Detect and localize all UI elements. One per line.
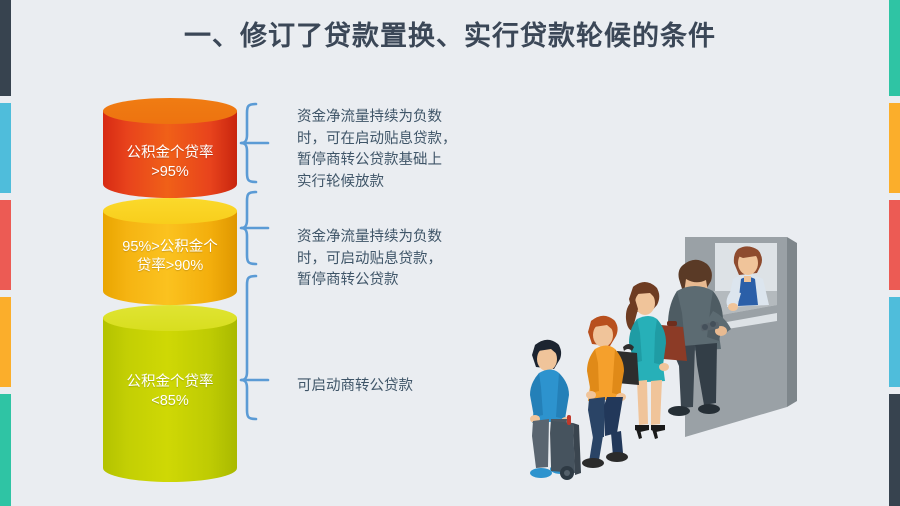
- tier-high-cap: [103, 98, 237, 124]
- desc-line: 可启动商转公贷款: [297, 376, 512, 398]
- desc-line: 实行轮候放款: [297, 172, 512, 194]
- desc-line: 时，可在启动贴息贷款，: [297, 129, 512, 151]
- strip-segment-teal: [0, 394, 11, 506]
- customer-man-blue: [530, 340, 581, 480]
- strip-segment-orange: [0, 297, 11, 387]
- customer-woman: [617, 282, 669, 439]
- desc-line: 暂停商转公贷款: [297, 270, 512, 292]
- tier-low-body: [103, 318, 237, 482]
- bank-queue-illustration: [505, 235, 805, 495]
- strip-segment-orange: [889, 103, 900, 193]
- bank-queue-svg: [505, 235, 805, 495]
- desc-line: 暂停商转公贷款基础上: [297, 150, 512, 172]
- tier-high-description: 资金净流量持续为负数 时，可在启动贴息贷款， 暂停商转公贷款基础上 实行轮候放款: [297, 107, 512, 193]
- desc-line: 资金净流量持续为负数: [297, 107, 512, 129]
- tier-high-cylinder[interactable]: 公积金个贷率 >95%: [103, 98, 237, 210]
- strip-segment-cyan: [889, 297, 900, 387]
- brace-connector-svg: [238, 96, 300, 426]
- brace-tier-low: [241, 276, 256, 419]
- strip-spacer: [0, 193, 11, 200]
- strip-segment-navy: [889, 394, 900, 506]
- strip-segment-red: [889, 200, 900, 290]
- strip-spacer: [889, 290, 900, 297]
- tier-mid-body: [103, 211, 237, 305]
- strip-spacer: [889, 387, 900, 394]
- brace-connectors: [238, 96, 300, 426]
- tier-high-body: [103, 111, 237, 198]
- tier-mid-description: 资金净流量持续为负数 时，可启动贴息贷款， 暂停商转公贷款: [297, 227, 512, 292]
- cylinder-stack: 公积金个贷率 <85% 95%>公积金个 贷率>90% 公积金个贷率 >95%: [103, 98, 237, 484]
- desc-line: 时，可启动贴息贷款，: [297, 249, 512, 271]
- tier-low-description: 可启动商转公贷款: [297, 376, 512, 398]
- strip-segment-cyan: [0, 103, 11, 193]
- strip-spacer: [0, 290, 11, 297]
- right-color-strip: [889, 0, 900, 506]
- tier-low-cylinder[interactable]: 公积金个贷率 <85%: [103, 305, 237, 485]
- page-title: 一、修订了贷款置换、实行贷款轮候的条件: [0, 14, 900, 53]
- desc-line: 资金净流量持续为负数: [297, 227, 512, 249]
- strip-spacer: [889, 96, 900, 103]
- strip-segment-red: [0, 200, 11, 290]
- strip-spacer: [0, 387, 11, 394]
- customer-man-orange: [582, 316, 628, 468]
- left-color-strip: [0, 0, 11, 506]
- tier-mid-cylinder[interactable]: 95%>公积金个 贷率>90%: [103, 198, 237, 310]
- strip-spacer: [0, 96, 11, 103]
- strip-spacer: [889, 193, 900, 200]
